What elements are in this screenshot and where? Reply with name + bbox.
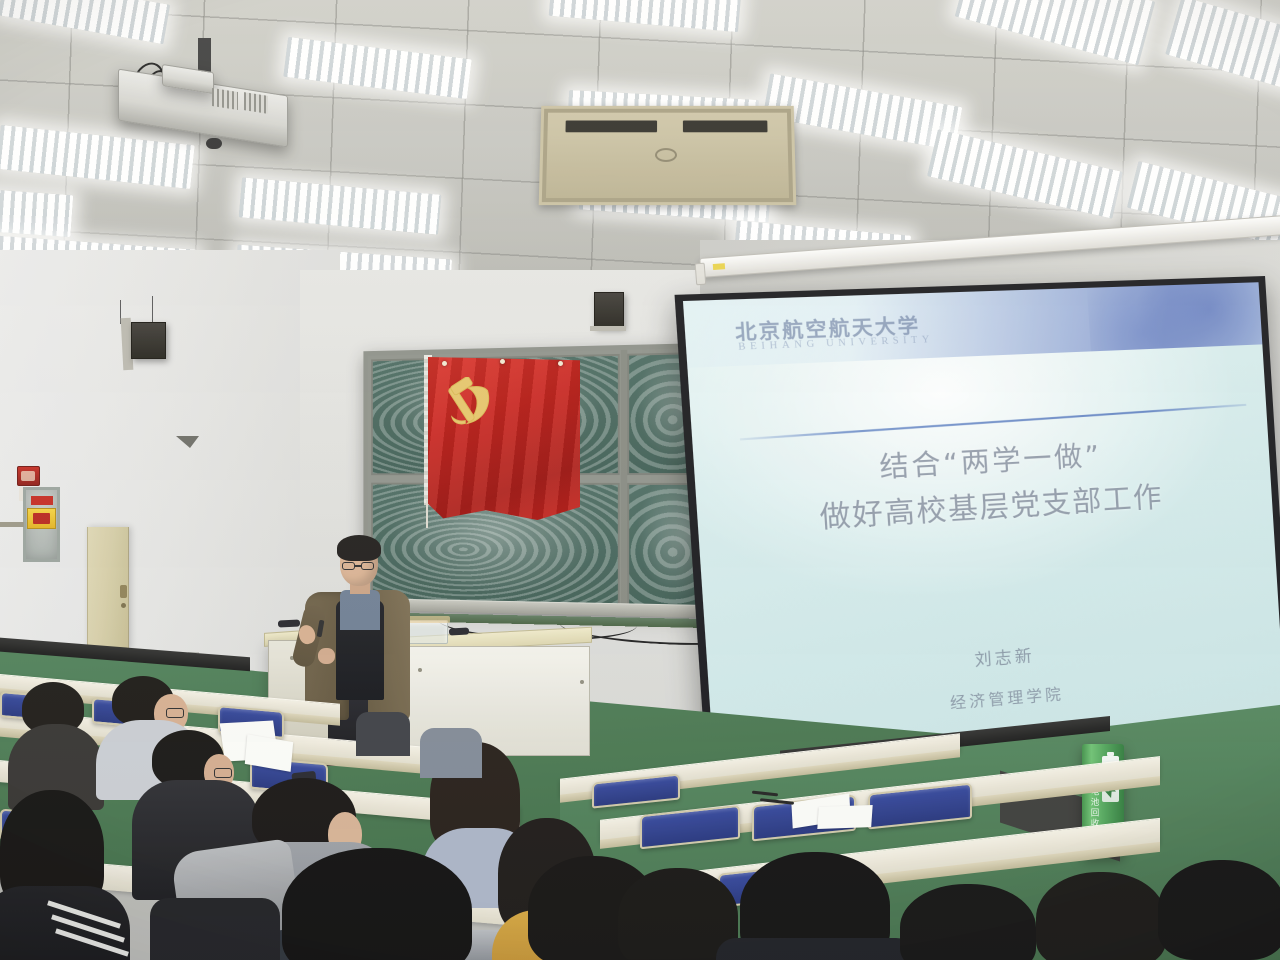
- eyeglasses-left-lens: [342, 562, 355, 570]
- slide-title: 结合“两学一做” 做好高校基层党支部工作: [693, 425, 1272, 547]
- wall-conduit: [0, 522, 24, 527]
- torso: [356, 712, 410, 756]
- wall-speaker: [131, 322, 166, 359]
- wall-mount-bracket: [176, 436, 199, 448]
- eyeglasses: [214, 768, 232, 778]
- torso: [420, 728, 482, 778]
- hair-long: [282, 848, 472, 960]
- housing-label-sticker: [713, 263, 725, 270]
- fire-alarm-lens: [21, 471, 35, 481]
- eyeglasses: [166, 708, 184, 718]
- blackboard-divider: [621, 350, 628, 616]
- presenter-hand-right: [318, 648, 335, 664]
- podium-knob: [580, 680, 584, 684]
- side-door[interactable]: [87, 527, 129, 650]
- party-flag: [428, 357, 580, 520]
- desk-remote[interactable]: [449, 627, 469, 635]
- podium-knob: [418, 668, 422, 672]
- ac-vent-slot: [683, 121, 768, 133]
- hair-long: [1036, 872, 1166, 960]
- fire-alarm-call-point[interactable]: [17, 466, 40, 486]
- flag-rope: [426, 500, 428, 528]
- hair-long: [1158, 860, 1280, 960]
- housing-end-cap: [695, 263, 707, 286]
- door-handle[interactable]: [120, 585, 127, 598]
- fire-hose-cabinet[interactable]: [23, 487, 60, 562]
- flag-pin: [500, 359, 505, 364]
- presenter-shirt-collar: [340, 590, 380, 630]
- ac-vent-slot: [565, 121, 657, 133]
- speaker-bracket: [590, 326, 626, 331]
- cabinet-warning-sign: [27, 508, 56, 529]
- ac-center-knob: [655, 148, 677, 162]
- flag-pin: [558, 361, 563, 366]
- eyeglasses-right-lens: [361, 562, 374, 570]
- door-lock: [121, 603, 126, 608]
- paper-sheet[interactable]: [817, 805, 872, 829]
- slide-globe-graphic: [1087, 282, 1262, 351]
- projector-lens: [206, 138, 222, 149]
- hair-long: [900, 884, 1036, 960]
- speaker-hang-wire: [152, 296, 153, 322]
- desk-remote[interactable]: [278, 619, 300, 627]
- flag-pin: [442, 361, 447, 366]
- presenter-hair: [337, 535, 381, 561]
- coat: [716, 938, 916, 960]
- cabinet-red-sign: [31, 496, 53, 505]
- backpack: [150, 898, 280, 960]
- wall-speaker: [594, 292, 624, 328]
- ceiling-air-conditioner: [539, 106, 797, 205]
- eyeglasses-bridge: [355, 565, 361, 567]
- projector-vent: [244, 92, 268, 114]
- lecture-hall-photo: 北京航空航天大学 BEIHANG UNIVERSITY 结合“两学一做” 做好高…: [0, 0, 1280, 960]
- hammer-and-sickle-emblem: [446, 377, 504, 439]
